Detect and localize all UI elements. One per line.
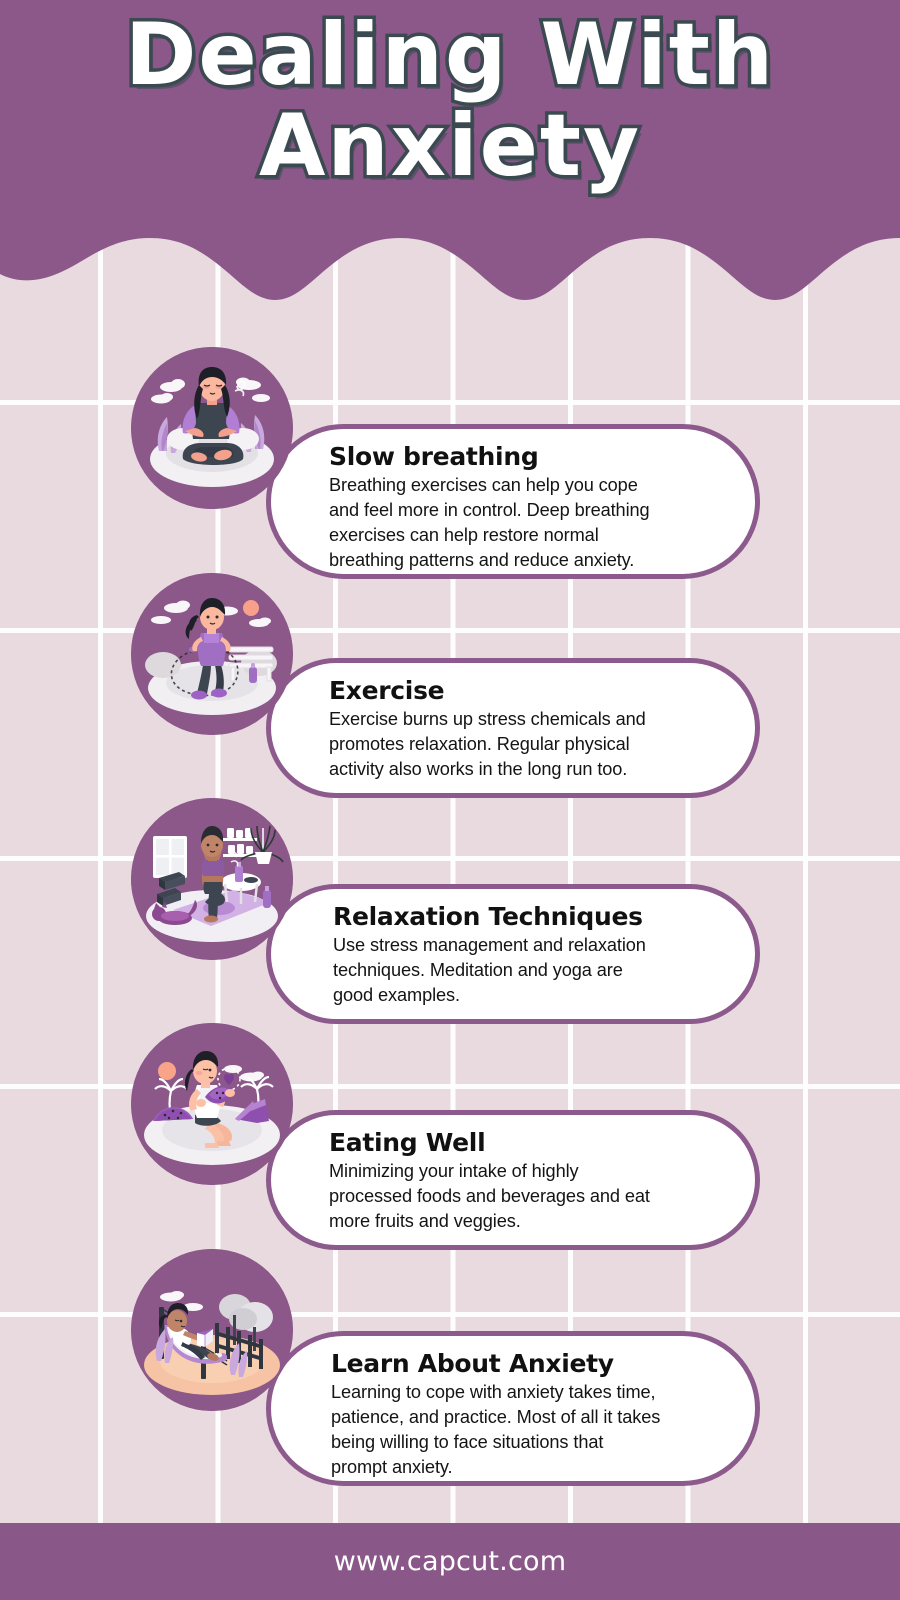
card-body: Exercise burns up stress chemicals and p… bbox=[329, 707, 729, 782]
infographic-poster: Dealing With Anxiety bbox=[0, 0, 900, 1600]
tip-card[interactable]: Learn About Anxiety Learning to cope wit… bbox=[266, 1331, 760, 1486]
card-body: Use stress management and relaxation tec… bbox=[329, 933, 729, 1008]
woman-reading-book-hammock-icon bbox=[131, 1249, 293, 1411]
card-body: Learning to cope with anxiety takes time… bbox=[329, 1380, 729, 1480]
card-body: Breathing exercises can help you cope an… bbox=[329, 473, 729, 573]
woman-meditating-lotus-pose-icon bbox=[131, 347, 293, 509]
footer-url[interactable]: www.capcut.com bbox=[334, 1546, 566, 1577]
card-body: Minimizing your intake of highly process… bbox=[329, 1159, 729, 1234]
tip-card[interactable]: Slow breathing Breathing exercises can h… bbox=[266, 424, 760, 579]
card-title: Eating Well bbox=[329, 1129, 729, 1157]
woman-yoga-tree-pose-icon bbox=[131, 798, 293, 960]
footer-bar: www.capcut.com bbox=[0, 1523, 900, 1600]
card-title: Learn About Anxiety bbox=[329, 1350, 729, 1378]
woman-eating-watermelon-beach-icon bbox=[131, 1023, 293, 1185]
woman-jumping-rope-icon bbox=[131, 573, 293, 735]
card-title: Slow breathing bbox=[329, 443, 729, 471]
tips-list: Slow breathing Breathing exercises can h… bbox=[0, 0, 900, 1600]
card-title: Exercise bbox=[329, 677, 729, 705]
tip-card[interactable]: Eating Well Minimizing your intake of hi… bbox=[266, 1110, 760, 1250]
tip-card[interactable]: Relaxation Techniques Use stress managem… bbox=[266, 884, 760, 1024]
tip-card[interactable]: Exercise Exercise burns up stress chemic… bbox=[266, 658, 760, 798]
card-title: Relaxation Techniques bbox=[329, 903, 729, 931]
